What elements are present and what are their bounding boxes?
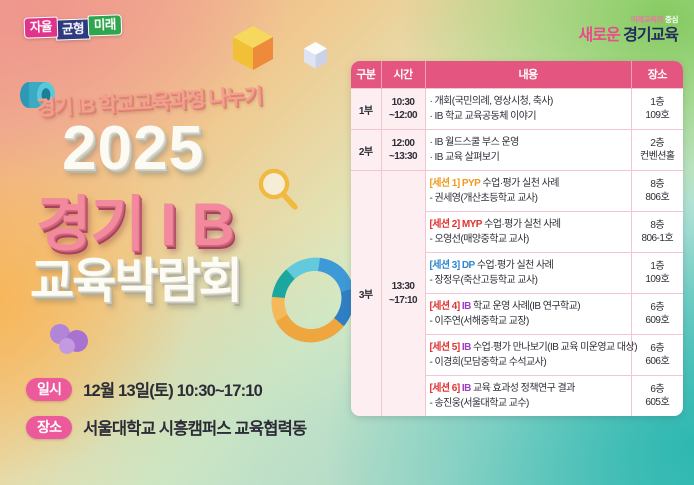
gov-brand-logo: 미래교육의 중심 새로운 경기교육 — [579, 16, 679, 44]
session-place-4: 6층 609호 — [631, 294, 683, 335]
brand-chip-autonomy: 자율 — [24, 17, 59, 39]
session-1-label: [세션 1] — [430, 178, 460, 189]
brand-chip-future: 미래 — [88, 14, 123, 36]
col-header-place: 장소 — [631, 61, 683, 89]
gov-brand-tag-pink: 미래교육의 — [631, 15, 664, 24]
poster-title-sub: 교육박람회 — [30, 258, 241, 306]
session-5-title: 수업·평가 만나보기(IB 교육 미운영교 대상) — [471, 342, 637, 353]
row-content-2: · IB 월드스쿨 부스 운영 · IB 교육 살펴보기 — [425, 130, 631, 171]
session-4-heading: [세션 4] IB 학교 운영 사례(IB 연구학교) — [430, 299, 627, 314]
session-4-room: 609호 — [636, 314, 680, 328]
session-3-heading: [세션 3] DP 수업·평가 실천 사례 — [430, 258, 627, 273]
session-6-code: IB — [462, 383, 471, 394]
row-time-3-end: ~17:10 — [386, 294, 421, 308]
session-content-2: [세션 2] MYP 수업·평가 실천 사례 - 오영선(매양중학교 교사) — [425, 212, 631, 253]
row-time-3-start: 13:30 — [386, 280, 421, 294]
gov-brand-main-pink: 새로운 — [579, 27, 620, 44]
row-content-1-line-2: · IB 학교 교육공동체 이야기 — [430, 109, 627, 124]
info-badge-date: 일시 — [26, 378, 72, 401]
session-2-label: [세션 2] — [430, 219, 460, 230]
info-text-venue: 서울대학교 시흥캠퍼스 교육협력동 — [83, 415, 306, 439]
session-5-presenter: - 이경희(모담중학교 수석교사) — [430, 355, 627, 370]
session-content-5: [세션 5] IB 수업·평가 만나보기(IB 교육 미운영교 대상) - 이경… — [425, 335, 631, 376]
session-6-room: 605호 — [636, 396, 680, 410]
row-place-1: 1층 109호 — [631, 89, 683, 130]
row-content-2-line-2: · IB 교육 살펴보기 — [430, 150, 627, 165]
row-time-3: 13:30 ~17:10 — [381, 171, 425, 417]
session-5-code: IB — [462, 342, 471, 353]
cube-yellow-icon — [231, 24, 275, 72]
magnifier-icon — [256, 167, 300, 211]
session-place-6: 6층 605호 — [631, 376, 683, 417]
brand-chip-balance: 균형 — [56, 18, 91, 40]
session-content-1: [세션 1] PYP 수업·평가 실천 사례 - 권세영(개산초등학교 교사) — [425, 171, 631, 212]
session-3-label: [세션 3] — [430, 260, 460, 271]
session-2-heading: [세션 2] MYP 수업·평가 실천 사례 — [430, 217, 627, 232]
table-header-row: 구분 시간 내용 장소 — [351, 61, 683, 89]
session-4-floor: 6층 — [636, 301, 680, 315]
session-4-presenter: - 이주연(서해중학교 교장) — [430, 314, 627, 329]
row-part-3: 3부 — [351, 171, 381, 417]
row-place-1-room: 109호 — [636, 109, 680, 123]
session-2-floor: 8층 — [636, 219, 680, 233]
poster-title-main: 경기 I B — [36, 195, 234, 255]
session-place-3: 1층 109호 — [631, 253, 683, 294]
session-2-title: 수업·평가 실천 사례 — [482, 219, 561, 230]
session-2-room: 806-1호 — [636, 232, 680, 246]
session-3-presenter: - 장정우(죽산고등학교 교사) — [430, 273, 627, 288]
session-place-2: 8층 806-1호 — [631, 212, 683, 253]
session-5-room: 606호 — [636, 355, 680, 369]
row-part-2: 2부 — [351, 130, 381, 171]
session-2-code: MYP — [462, 219, 482, 230]
session-4-title: 학교 운영 사례(IB 연구학교) — [471, 301, 580, 312]
row-place-2-floor: 2층 — [636, 137, 680, 151]
poster-canvas: 자율 균형 미래 미래교육의 중심 새로운 경기교육 경기 IB 학교교육과정 … — [0, 0, 694, 485]
table-row: 2부 12:00 ~13:30 · IB 월드스쿨 부스 운영 · IB 교육 … — [351, 130, 683, 171]
row-place-2: 2층 컨벤션홀 — [631, 130, 683, 171]
row-time-2-end: ~13:30 — [386, 150, 421, 164]
table-row: 1부 10:30 ~12:00 · 개회(국민의례, 영상시청, 축사) · I… — [351, 89, 683, 130]
session-1-floor: 8층 — [636, 178, 680, 192]
session-2-presenter: - 오영선(매양중학교 교사) — [430, 232, 627, 247]
session-5-heading: [세션 5] IB 수업·평가 만나보기(IB 교육 미운영교 대상) — [430, 340, 627, 355]
donut-ring-icon — [266, 250, 360, 351]
row-time-1-start: 10:30 — [386, 96, 421, 110]
gov-brand-main-navy: 경기교육 — [620, 27, 678, 44]
row-time-2: 12:00 ~13:30 — [381, 130, 425, 171]
session-5-floor: 6층 — [636, 342, 680, 356]
table-row: 3부 13:30 ~17:10 [세션 1] PYP 수업·평가 실천 사례 -… — [351, 171, 683, 212]
event-info-block: 일시 12월 13일(토) 10:30~17:10 장소 서울대학교 시흥캠퍼스… — [26, 377, 306, 453]
session-1-title: 수업·평가 실천 사례 — [480, 178, 559, 189]
blob-purple-icon — [46, 322, 92, 354]
session-place-5: 6층 606호 — [631, 335, 683, 376]
info-row-date: 일시 12월 13일(토) 10:30~17:10 — [26, 377, 306, 401]
session-6-label: [세션 6] — [430, 383, 460, 394]
gov-brand-name: 새로운 경기교육 — [579, 28, 679, 44]
row-place-1-floor: 1층 — [636, 96, 680, 110]
col-header-time: 시간 — [381, 61, 425, 89]
session-4-label: [세션 4] — [430, 301, 460, 312]
row-time-1: 10:30 ~12:00 — [381, 89, 425, 130]
brand-logo: 자율 균형 미래 — [24, 17, 123, 41]
session-content-3: [세션 3] DP 수업·평가 실천 사례 - 장정우(죽산고등학교 교사) — [425, 253, 631, 294]
col-header-content: 내용 — [425, 61, 631, 89]
schedule-card: 구분 시간 내용 장소 1부 10:30 ~12:00 · 개회(국민의례, 영… — [351, 61, 683, 416]
session-content-6: [세션 6] IB 교육 효과성 정책연구 결과 - 송진웅(서울대학교 교수) — [425, 376, 631, 417]
session-4-code: IB — [462, 301, 471, 312]
schedule-table: 구분 시간 내용 장소 1부 10:30 ~12:00 · 개회(국민의례, 영… — [351, 61, 683, 416]
session-6-presenter: - 송진웅(서울대학교 교수) — [430, 396, 627, 411]
session-6-floor: 6층 — [636, 383, 680, 397]
session-5-label: [세션 5] — [430, 342, 460, 353]
info-text-date: 12월 13일(토) 10:30~17:10 — [83, 377, 262, 401]
poster-year: 2025 — [62, 118, 204, 180]
session-content-4: [세션 4] IB 학교 운영 사례(IB 연구학교) - 이주연(서해중학교 … — [425, 294, 631, 335]
session-1-code: PYP — [462, 178, 480, 189]
info-row-venue: 장소 서울대학교 시흥캠퍼스 교육협력동 — [26, 415, 306, 439]
info-badge-venue: 장소 — [26, 416, 72, 439]
session-1-presenter: - 권세영(개산초등학교 교사) — [430, 191, 627, 206]
col-header-part: 구분 — [351, 61, 381, 89]
row-time-1-end: ~12:00 — [386, 109, 421, 123]
session-3-floor: 1층 — [636, 260, 680, 274]
row-place-2-room: 컨벤션홀 — [636, 150, 680, 164]
row-content-1-line-1: · 개회(국민의례, 영상시청, 축사) — [430, 94, 627, 109]
session-3-title: 수업·평가 실천 사례 — [475, 260, 554, 271]
row-time-2-start: 12:00 — [386, 137, 421, 151]
row-content-2-line-1: · IB 월드스쿨 부스 운영 — [430, 135, 627, 150]
gov-brand-tag-rest: 중심 — [663, 15, 678, 24]
session-1-heading: [세션 1] PYP 수업·평가 실천 사례 — [430, 176, 627, 191]
cube-white-icon — [302, 41, 329, 70]
session-place-1: 8층 806호 — [631, 171, 683, 212]
row-content-1: · 개회(국민의례, 영상시청, 축사) · IB 학교 교육공동체 이야기 — [425, 89, 631, 130]
row-part-1: 1부 — [351, 89, 381, 130]
session-3-room: 109호 — [636, 273, 680, 287]
gov-brand-tagline: 미래교육의 중심 — [579, 16, 679, 24]
session-6-title: 교육 효과성 정책연구 결과 — [471, 383, 575, 394]
session-6-heading: [세션 6] IB 교육 효과성 정책연구 결과 — [430, 381, 627, 396]
session-3-code: DP — [462, 260, 475, 271]
session-1-room: 806호 — [636, 191, 680, 205]
